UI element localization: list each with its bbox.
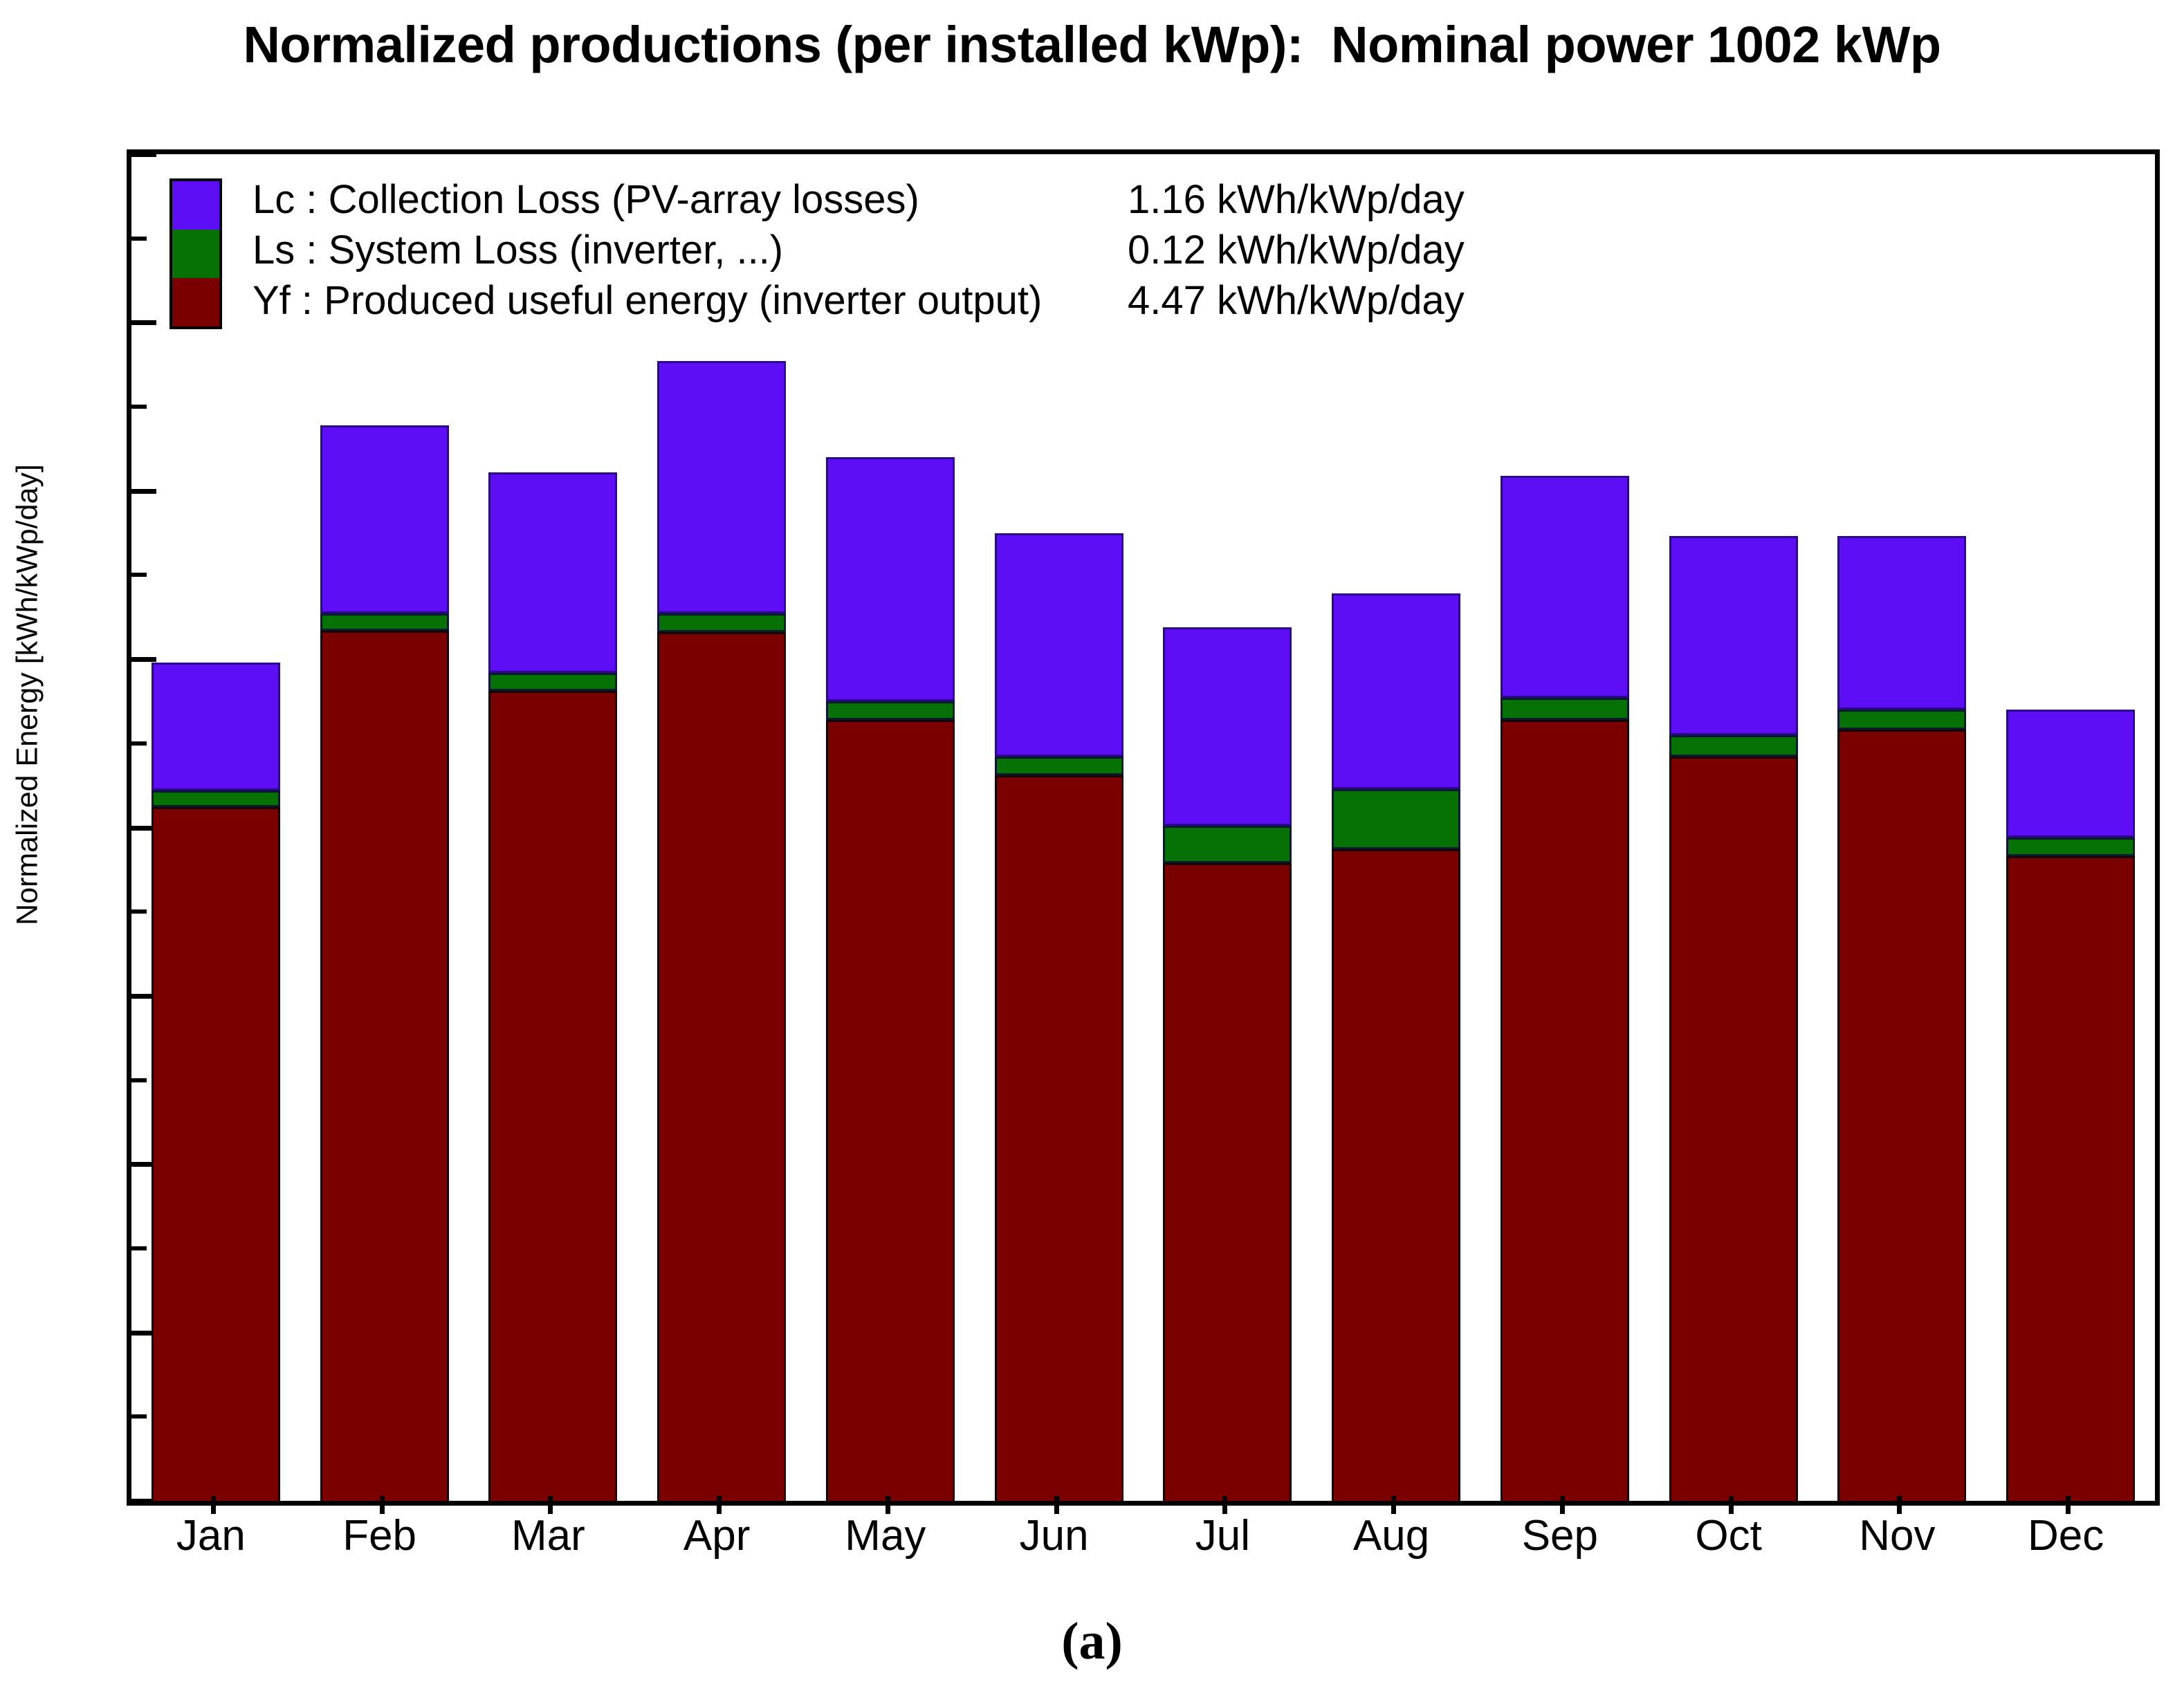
bar-segment-ls — [826, 701, 955, 720]
bar-may[interactable] — [826, 457, 955, 1501]
yf-swatch — [172, 278, 219, 326]
bar-segment-ls — [488, 673, 617, 692]
bar-segment-ls — [657, 613, 786, 632]
bar-segment-ls — [1837, 710, 1966, 730]
plot-area — [127, 149, 2160, 1506]
bar-segment-yf — [152, 807, 280, 1501]
legend-value-yf: 4.47 kWh/kWp/day — [1128, 277, 1465, 324]
y-axis-minor-tick — [131, 237, 147, 241]
bar-segment-yf — [1332, 849, 1460, 1501]
bar-segment-ls — [1163, 826, 1292, 863]
bar-segment-yf — [1837, 730, 1966, 1501]
bar-segment-ls — [995, 757, 1123, 775]
y-axis-major-tick — [131, 489, 156, 494]
y-axis-minor-tick — [131, 1246, 147, 1250]
chart-legend: Lc : Collection Loss (PV-array losses) 1… — [169, 176, 1761, 335]
legend-label-lc: Lc : Collection Loss (PV-array losses) — [253, 176, 919, 223]
bar-feb[interactable] — [320, 425, 449, 1501]
legend-row-lc: Lc : Collection Loss (PV-array losses) 1… — [253, 176, 1761, 226]
bar-segment-yf — [995, 775, 1123, 1501]
bar-dec[interactable] — [2006, 710, 2135, 1501]
bar-segment-lc — [1669, 536, 1798, 734]
y-axis-minor-tick — [131, 405, 147, 409]
bar-segment-ls — [1501, 698, 1629, 720]
y-axis-minor-tick — [131, 1078, 147, 1082]
bar-apr[interactable] — [657, 361, 786, 1501]
bar-jan[interactable] — [152, 663, 280, 1501]
legend-label-ls: Ls : System Loss (inverter, ...) — [253, 227, 783, 273]
plot-inner — [131, 154, 2155, 1501]
bar-segment-ls — [2006, 838, 2135, 856]
bar-segment-lc — [995, 533, 1123, 757]
bar-segment-yf — [826, 720, 955, 1501]
legend-swatch-stack — [169, 178, 222, 329]
bar-segment-lc — [320, 425, 449, 614]
ls-swatch — [172, 230, 219, 278]
bar-segment-yf — [2006, 856, 2135, 1501]
bar-segment-yf — [1163, 863, 1292, 1501]
bar-aug[interactable] — [1332, 593, 1460, 1501]
bar-jul[interactable] — [1163, 627, 1292, 1501]
bar-segment-yf — [657, 632, 786, 1501]
bar-nov[interactable] — [1837, 536, 1966, 1501]
y-axis-minor-tick — [131, 909, 147, 914]
bar-segment-lc — [826, 457, 955, 701]
bar-mar[interactable] — [488, 472, 617, 1501]
y-axis-major-tick — [131, 320, 156, 325]
legend-label-yf: Yf : Produced useful energy (inverter ou… — [253, 277, 1042, 324]
figure-panel: Normalized productions (per installed kW… — [0, 0, 2184, 1700]
legend-value-lc: 1.16 kWh/kWp/day — [1128, 176, 1465, 223]
bar-oct[interactable] — [1669, 536, 1798, 1501]
bar-segment-yf — [1501, 720, 1629, 1501]
y-axis-minor-tick — [131, 573, 147, 577]
y-axis-major-tick — [131, 657, 156, 662]
legend-row-ls: Ls : System Loss (inverter, ...) 0.12 kW… — [253, 227, 1761, 277]
bar-segment-lc — [2006, 710, 2135, 838]
bar-segment-yf — [1669, 757, 1798, 1501]
bar-segment-ls — [320, 613, 449, 630]
bar-segment-lc — [1501, 476, 1629, 698]
y-axis-label: Normalized Energy [kWh/kWp/day] — [11, 142, 45, 1248]
x-axis-label-dec: Dec — [1962, 1511, 2169, 1560]
bar-segment-ls — [152, 791, 280, 807]
y-axis-minor-tick — [131, 741, 147, 746]
bar-sep[interactable] — [1501, 476, 1629, 1501]
bar-segment-lc — [1163, 627, 1292, 826]
bar-segment-ls — [1669, 735, 1798, 757]
figure-caption: (a) — [0, 1611, 2184, 1672]
bar-segment-lc — [657, 361, 786, 613]
bar-segment-lc — [1332, 593, 1460, 788]
legend-row-yf: Yf : Produced useful energy (inverter ou… — [253, 277, 1761, 327]
lc-swatch — [172, 181, 219, 230]
bar-segment-yf — [488, 691, 617, 1501]
y-axis-major-tick — [131, 152, 156, 157]
bar-segment-lc — [1837, 536, 1966, 710]
bar-segment-lc — [152, 663, 280, 791]
bar-segment-ls — [1332, 789, 1460, 850]
y-axis-minor-tick — [131, 1414, 147, 1419]
chart-title: Normalized productions (per installed kW… — [0, 15, 2184, 74]
legend-value-ls: 0.12 kWh/kWp/day — [1128, 227, 1465, 273]
bar-segment-yf — [320, 631, 449, 1501]
bar-jun[interactable] — [995, 533, 1123, 1501]
bar-segment-lc — [488, 472, 617, 673]
